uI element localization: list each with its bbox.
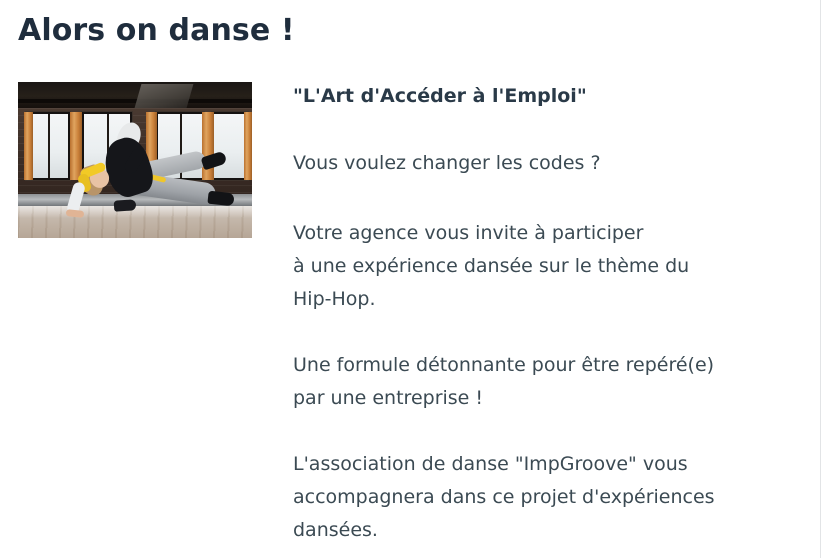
dance-photo bbox=[18, 82, 252, 238]
paragraph-line: Vous voulez changer les codes ? bbox=[293, 147, 805, 180]
article-lede: "L'Art d'Accéder à l'Emploi" bbox=[293, 82, 805, 110]
paragraph-line: dansées. bbox=[293, 514, 805, 547]
paragraph-line: L'association de danse "ImpGroove" vous bbox=[293, 448, 805, 481]
dancer-shoe bbox=[207, 191, 234, 207]
page-title: Alors on danse ! bbox=[18, 12, 295, 50]
article-paragraph: Votre agence vous invite à participer à … bbox=[293, 217, 805, 316]
dancer-figure bbox=[18, 82, 252, 238]
paragraph-line: par une entreprise ! bbox=[293, 382, 805, 415]
article-paragraph: L'association de danse "ImpGroove" vous … bbox=[293, 448, 805, 547]
article-paragraph: Vous voulez changer les codes ? bbox=[293, 147, 805, 180]
dancer-shoe bbox=[201, 151, 228, 171]
dancer-hand bbox=[66, 209, 85, 218]
article-paragraph: Une formule détonnante pour être repéré(… bbox=[293, 349, 805, 415]
paragraph-line: Une formule détonnante pour être repéré(… bbox=[293, 349, 805, 382]
page-root: Alors on danse ! bbox=[0, 0, 826, 558]
content-right-divider bbox=[820, 0, 821, 558]
article-text-column: "L'Art d'Accéder à l'Emploi" Vous voulez… bbox=[293, 82, 805, 547]
paragraph-line: Votre agence vous invite à participer bbox=[293, 217, 805, 250]
paragraph-line: accompagnera dans ce projet d'expérience… bbox=[293, 481, 805, 514]
paragraph-line: à une expérience dansée sur le thème du bbox=[293, 250, 805, 283]
paragraph-line: Hip-Hop. bbox=[293, 283, 805, 316]
dance-photo-canvas bbox=[18, 82, 252, 238]
dancer-shoe bbox=[114, 199, 137, 212]
